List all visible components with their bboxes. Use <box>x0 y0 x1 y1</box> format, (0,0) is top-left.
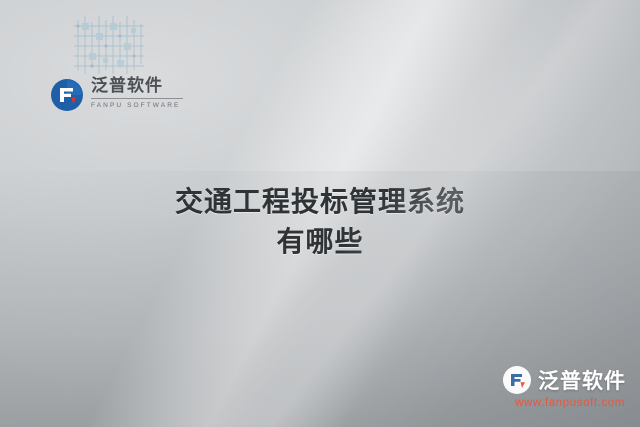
brand-text-block: 泛普软件 FANPU SOFTWARE <box>91 78 183 112</box>
page-title: 交通工程投标管理系统 有哪些 <box>0 182 640 262</box>
watermark-bottom-right: 泛普软件 www.fanpusoft.com <box>502 365 626 409</box>
watermark-brand-cn: 泛普软件 <box>538 365 626 395</box>
page-title-line-2: 有哪些 <box>0 222 640 262</box>
slide-canvas: 泛普软件 FANPU SOFTWARE 交通工程投标管理系统 有哪些 泛普软件 … <box>0 0 640 427</box>
watermark-url: www.fanpusoft.com <box>515 397 625 409</box>
brand-name-en: FANPU SOFTWARE <box>91 103 183 110</box>
page-title-line-1: 交通工程投标管理系统 <box>0 182 640 222</box>
brand-name-cn: 泛普软件 <box>91 78 183 95</box>
watermark-row: 泛普软件 <box>502 365 626 395</box>
circuit-pattern-icon <box>72 14 146 76</box>
brand-logo-top-left: 泛普软件 FANPU SOFTWARE <box>50 78 183 112</box>
brand-divider <box>91 98 183 99</box>
fanpu-watermark-mark-icon <box>502 365 532 395</box>
fanpu-logo-mark-icon <box>50 78 84 112</box>
